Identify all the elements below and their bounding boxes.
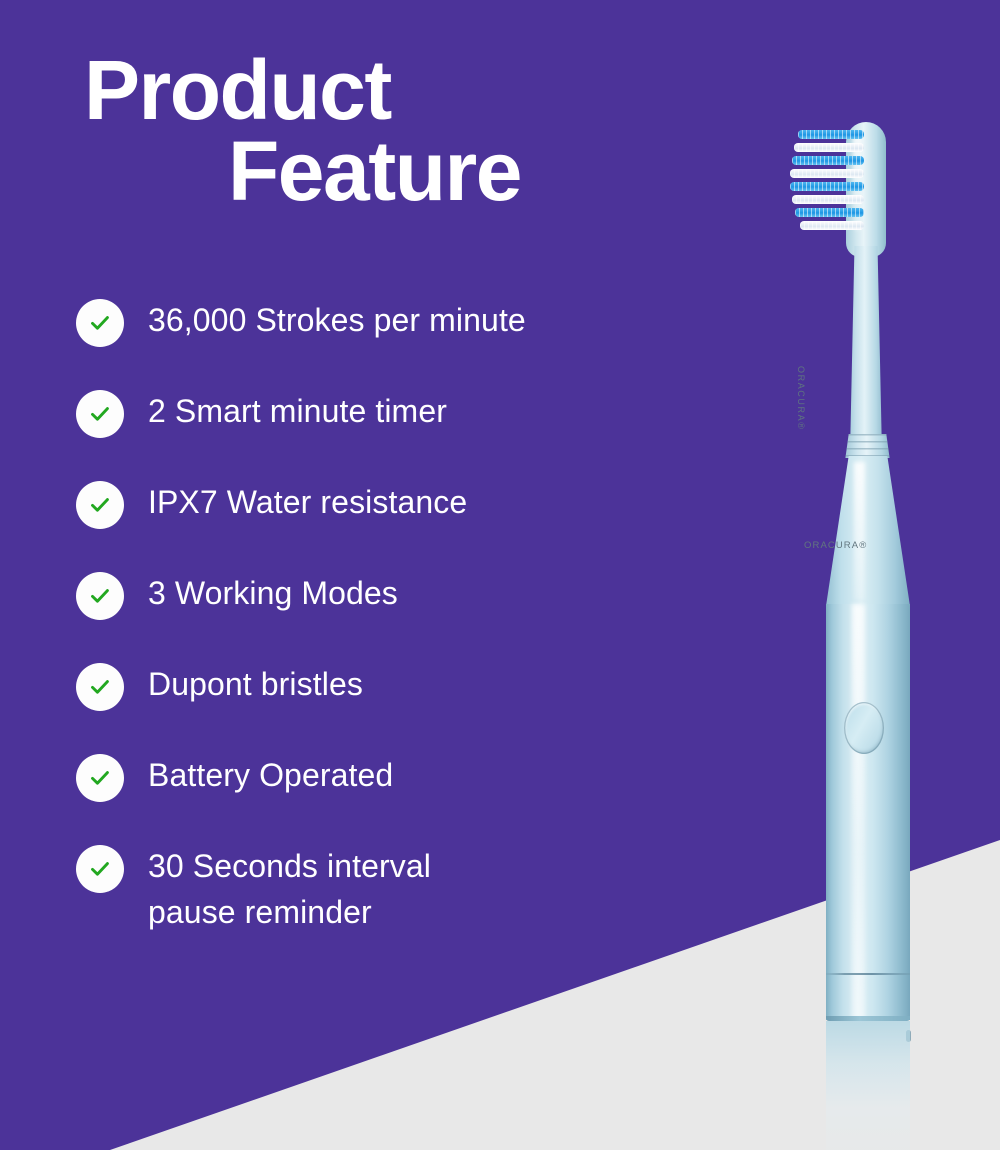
check-circle-icon [76, 663, 124, 711]
page-title-line-1: Product [82, 50, 702, 131]
check-circle-icon [76, 481, 124, 529]
list-item: IPX7 Water resistance [76, 481, 696, 529]
feature-label: 2 Smart minute timer [148, 388, 447, 434]
check-circle-icon [76, 572, 124, 620]
handle-cone [826, 456, 910, 606]
list-item: 36,000 Strokes per minute [76, 299, 696, 347]
check-circle-icon [76, 845, 124, 893]
power-button[interactable] [844, 702, 884, 754]
connector-ring [844, 434, 891, 458]
page-title: Product Feature [82, 50, 702, 211]
bristle-row [798, 130, 864, 139]
poster-canvas: Product Feature 36,000 Strokes per minut… [0, 0, 1000, 1150]
bristle-row [790, 169, 864, 178]
feature-label: IPX7 Water resistance [148, 479, 467, 525]
feature-list: 36,000 Strokes per minute 2 Smart minute… [76, 299, 696, 935]
product-reflection [826, 1021, 910, 1150]
bristle-row [794, 143, 864, 152]
list-item: Dupont bristles [76, 663, 696, 711]
brand-label-body: ORACURA® [804, 540, 867, 551]
bristle-row [795, 208, 864, 217]
list-item: Battery Operated [76, 754, 696, 802]
feature-label: Dupont bristles [148, 661, 363, 707]
handle-body [826, 604, 910, 1020]
bristle-row [790, 182, 864, 191]
check-circle-icon [76, 754, 124, 802]
bristle-row [792, 195, 864, 204]
bristle-row [792, 156, 864, 165]
page-title-line-2: Feature [82, 131, 702, 212]
check-circle-icon [76, 299, 124, 347]
brush-neck [848, 246, 884, 446]
list-item: 3 Working Modes [76, 572, 696, 620]
feature-label: Battery Operated [148, 752, 393, 798]
brand-label-neck: ORACURA® [796, 366, 806, 430]
check-circle-icon [76, 390, 124, 438]
bristle-field [790, 130, 864, 238]
list-item: 30 Seconds interval pause reminder [76, 845, 696, 935]
bristle-row [800, 221, 864, 230]
battery-cap-seam [826, 973, 910, 975]
feature-label: 30 Seconds interval pause reminder [148, 843, 431, 935]
product-image-toothbrush: ORACURA® ORACURA® [768, 118, 918, 1078]
feature-label: 36,000 Strokes per minute [148, 297, 526, 343]
list-item: 2 Smart minute timer [76, 390, 696, 438]
feature-label: 3 Working Modes [148, 570, 398, 616]
